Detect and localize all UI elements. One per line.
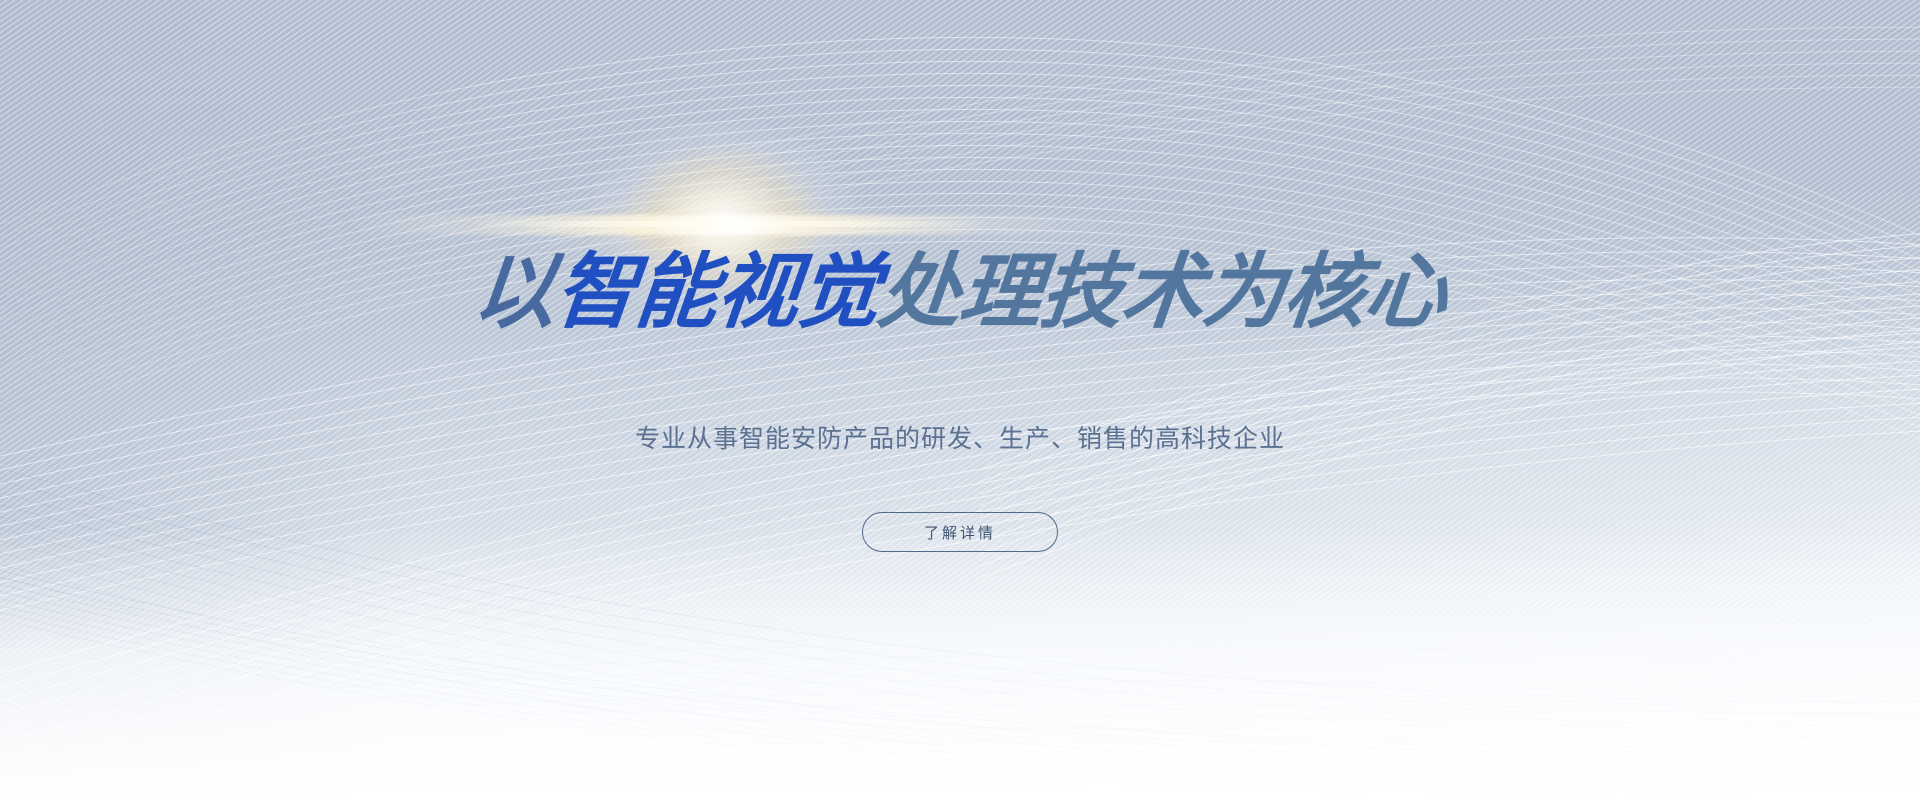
hero-content: 以智能视觉处理技术为核心 专业从事智能安防产品的研发、生产、销售的高科技企业 了… [0,0,1920,800]
lens-flare-streak [350,215,1110,235]
background-hatch-light [0,0,1920,800]
cta-container: 了解详情 [0,512,1920,552]
hero-banner: 以智能视觉处理技术为核心 专业从事智能安防产品的研发、生产、销售的高科技企业 了… [0,0,1920,800]
background-hatch-dark [0,0,1920,800]
lens-flare-streak-hot [470,221,990,227]
page-title: 以智能视觉处理技术为核心 [0,252,1920,334]
lens-flare-core [592,122,852,322]
headline-segment-3: 处理技术为核心 [874,245,1451,340]
background-tint-top [0,0,1920,368]
background-wave-ribbons [0,0,1920,800]
lens-flare-glow [556,186,896,264]
background-tint-bottom [0,528,1920,800]
background-tint-left [0,0,422,800]
page-subtitle: 专业从事智能安防产品的研发、生产、销售的高科技企业 [0,423,1920,456]
learn-more-button[interactable]: 了解详情 [862,512,1058,552]
headline-segment-1: 以 [469,245,560,340]
headline-segment-2: 智能视觉 [550,245,884,340]
